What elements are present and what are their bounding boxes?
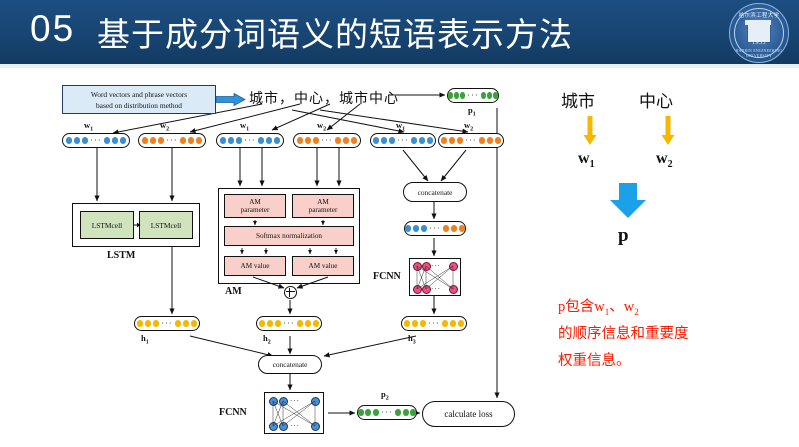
dot — [196, 137, 202, 143]
dot — [358, 409, 364, 415]
vector-h3: ··· — [401, 316, 467, 331]
dot — [258, 137, 264, 143]
dot — [275, 320, 281, 326]
dot — [395, 409, 401, 415]
calculate-loss-node[interactable]: calculate loss — [422, 401, 515, 427]
vector-w2-a: ··· — [138, 133, 206, 148]
dot — [458, 320, 464, 326]
ellipsis: ··· — [466, 94, 480, 98]
fcnn-top-label: FCNN — [373, 271, 401, 282]
dot — [137, 320, 143, 326]
vector-w2-b: ··· — [293, 133, 361, 148]
label-w1-c: w1 — [396, 120, 405, 133]
dot — [411, 137, 417, 143]
dot — [153, 320, 159, 326]
dot — [450, 320, 456, 326]
ellipsis: ··· — [165, 139, 179, 143]
vector-concat-top: ··· — [404, 221, 466, 236]
dot — [266, 137, 272, 143]
dot — [351, 137, 357, 143]
ellipsis: ··· — [89, 139, 103, 143]
legend-box: Word vectors and phrase vectors based on… — [62, 85, 216, 114]
dot — [421, 225, 427, 231]
vector-w1-a: ··· — [62, 133, 130, 148]
dot — [180, 137, 186, 143]
yellow-arrow-icon-2 — [661, 116, 675, 146]
concatenate-top[interactable]: concatenate — [403, 182, 467, 202]
dot — [259, 320, 265, 326]
dot — [305, 320, 311, 326]
university-logo-icon: 哈尔滨工程大学 1953 HARBIN ENGINEERING UNIVERSI… — [729, 3, 789, 63]
fcnn-edges — [265, 393, 325, 435]
dot — [373, 137, 379, 143]
dot — [158, 137, 164, 143]
label-p2: p2 — [381, 389, 389, 402]
ellipsis: ··· — [428, 227, 442, 231]
dot — [403, 409, 409, 415]
vector-w2-c: ··· — [438, 133, 504, 148]
dot — [297, 320, 303, 326]
dot — [267, 320, 273, 326]
am-internal-arrows — [218, 186, 362, 286]
vector-h2: ··· — [256, 316, 322, 331]
logo-year: 1953 — [730, 40, 788, 46]
lstm-cell-link-arrow-icon — [133, 221, 141, 229]
dot — [404, 320, 410, 326]
vector-w1-b: ··· — [216, 133, 284, 148]
dot — [419, 137, 425, 143]
legend-text: Word vectors and phrase vectors based on… — [91, 89, 187, 111]
right-result-p: p — [618, 225, 629, 247]
dot — [381, 137, 387, 143]
label-h2: h2 — [263, 333, 271, 346]
legend-line-1: Word vectors and phrase vectors — [91, 90, 187, 99]
lstm-group-label: LSTM — [107, 250, 135, 261]
lstm-cell-1: LSTMcell — [80, 211, 134, 239]
ellipsis: ··· — [464, 139, 478, 143]
section-number: 05 — [30, 8, 75, 50]
dot — [459, 225, 465, 231]
blue-arrow-icon — [216, 93, 246, 106]
dot — [413, 225, 419, 231]
fcnn-top-box: ··· ··· — [409, 258, 461, 296]
dot — [274, 137, 280, 143]
vector-p1: ··· — [447, 88, 499, 103]
dot — [74, 137, 80, 143]
dot — [457, 137, 463, 143]
dot — [236, 137, 242, 143]
label-w1-b: w1 — [240, 120, 249, 133]
dot — [313, 320, 319, 326]
dot — [313, 137, 319, 143]
slide-body: Word vectors and phrase vectors based on… — [0, 68, 799, 447]
ellipsis: ··· — [396, 139, 410, 143]
vector-w1-c: ··· — [370, 133, 436, 148]
label-w2-a: w2 — [160, 120, 169, 133]
dot — [150, 137, 156, 143]
sum-operator-icon — [284, 286, 297, 299]
slide-header: 05 基于成分词语义的短语表示方法 哈尔滨工程大学 1953 HARBIN EN… — [0, 0, 799, 68]
dot — [335, 137, 341, 143]
legend-line-2: based on distribution method — [96, 101, 182, 110]
dot — [175, 320, 181, 326]
label-w2-b: w2 — [317, 120, 326, 133]
input-sequence-text: 城市，中心，城市中心 — [249, 88, 399, 108]
dot — [191, 320, 197, 326]
dot — [142, 137, 148, 143]
dot — [104, 137, 110, 143]
blue-down-arrow-icon — [608, 183, 648, 219]
dot — [365, 409, 371, 415]
dot — [493, 92, 498, 98]
dot — [448, 92, 453, 98]
note-line-2: 的顺序信息和重要度 — [558, 323, 689, 346]
dot — [495, 137, 501, 143]
dot — [297, 137, 303, 143]
dot — [454, 92, 459, 98]
right-vec-1: w1 — [578, 150, 595, 170]
dot — [479, 137, 485, 143]
page-title: 基于成分词语义的短语表示方法 — [97, 8, 573, 56]
dot — [228, 137, 234, 143]
dot — [343, 137, 349, 143]
dot — [183, 320, 189, 326]
dot — [373, 409, 379, 415]
dot — [442, 320, 448, 326]
ellipsis: ··· — [243, 139, 257, 143]
dot — [460, 92, 465, 98]
lstm-cell-2: LSTMcell — [139, 211, 193, 239]
label-h3: h3 — [408, 333, 416, 346]
vector-p2: ··· — [357, 405, 417, 420]
label-h1: h1 — [141, 333, 149, 346]
label-w1-a: w1 — [84, 120, 93, 133]
note-line-3: 权重信息。 — [558, 350, 631, 373]
vector-h1: ··· — [134, 316, 200, 331]
dot — [82, 137, 88, 143]
yellow-arrow-icon-1 — [583, 116, 597, 146]
dot — [305, 137, 311, 143]
dot — [441, 137, 447, 143]
dot — [220, 137, 226, 143]
dot — [449, 137, 455, 143]
fcnn-bottom-label: FCNN — [219, 407, 247, 418]
am-group-label: AM — [225, 286, 242, 297]
ellipsis: ··· — [320, 139, 334, 143]
dot — [451, 225, 457, 231]
dot — [412, 320, 418, 326]
logo-arc-bottom: HARBIN ENGINEERING UNIVERSITY — [730, 48, 788, 58]
ellipsis: ··· — [160, 322, 174, 326]
ellipsis: ··· — [427, 322, 441, 326]
dot — [405, 225, 411, 231]
dot — [120, 137, 126, 143]
dot — [487, 92, 492, 98]
ellipsis: ··· — [282, 322, 296, 326]
right-vec-2: w2 — [656, 150, 673, 170]
concatenate-bottom[interactable]: concatenate — [258, 355, 322, 374]
dot — [410, 409, 416, 415]
dot — [188, 137, 194, 143]
dot — [443, 225, 449, 231]
right-word-2: 中心 — [639, 87, 673, 112]
logo-arc-top: 哈尔滨工程大学 — [730, 11, 788, 19]
dot — [145, 320, 151, 326]
fcnn-bottom-box: ··· ··· — [264, 392, 324, 434]
dot — [481, 92, 486, 98]
dot — [420, 320, 426, 326]
fcnn-edges — [410, 259, 462, 297]
dot — [487, 137, 493, 143]
note-line-1: p包含w1、w2 — [558, 296, 639, 324]
label-w2-c: w2 — [464, 120, 473, 133]
ellipsis: ··· — [380, 411, 394, 415]
dot — [389, 137, 395, 143]
label-p1: p1 — [468, 105, 476, 118]
slide: 05 基于成分词语义的短语表示方法 哈尔滨工程大学 1953 HARBIN EN… — [0, 0, 799, 447]
dot — [66, 137, 72, 143]
dot — [112, 137, 118, 143]
dot — [427, 137, 433, 143]
right-word-1: 城市 — [561, 87, 595, 112]
